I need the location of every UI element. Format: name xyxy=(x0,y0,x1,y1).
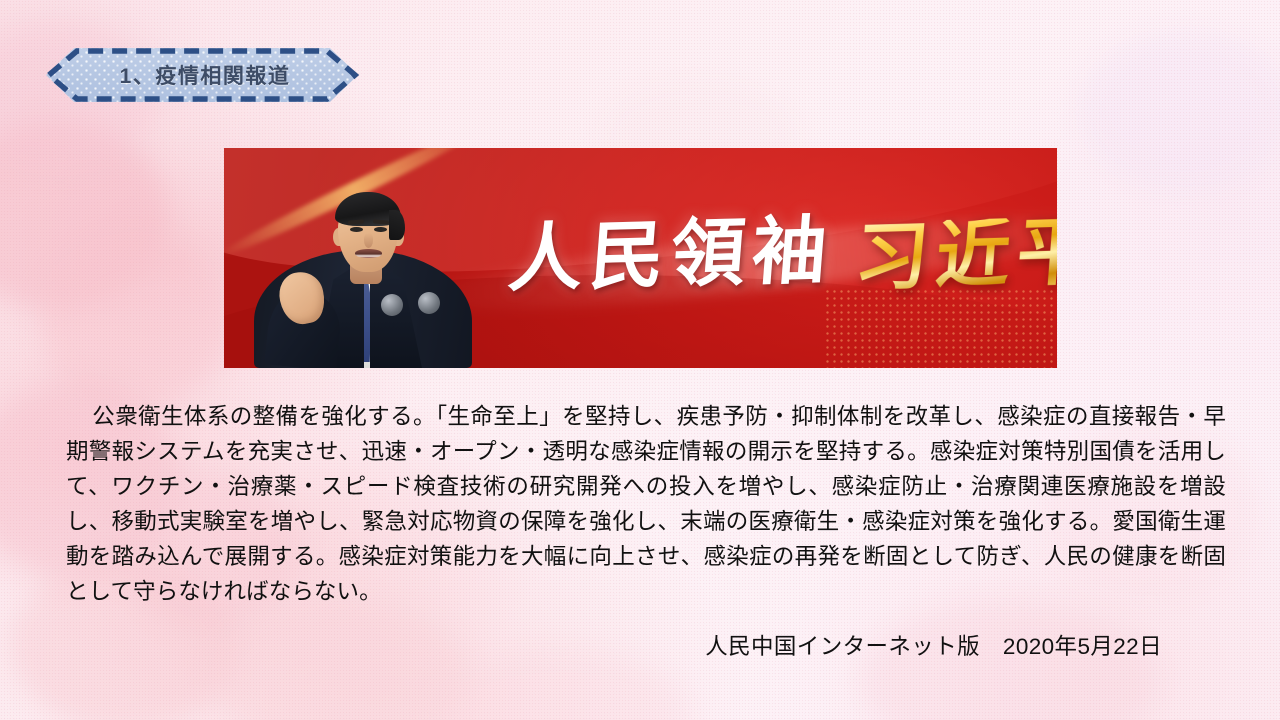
portrait-eye-right xyxy=(374,227,387,232)
slide-canvas: 1、疫情相関報道 xyxy=(0,0,1280,720)
footer-source-credit: 人民中国インターネット版 2020年5月22日 xyxy=(705,629,1162,661)
microphone-head-right xyxy=(418,292,440,314)
portrait-eye-left xyxy=(350,227,363,232)
paragraph-text: 公衆衛生体系の整備を強化する。「生命至上」を堅持し、疾患予防・抑制体制を改革し、… xyxy=(66,404,1226,604)
section-header-banner: 1、疫情相関報道 xyxy=(46,48,358,102)
banner-calligraphy: 人民領袖 习近平 xyxy=(509,192,1049,320)
body-paragraph: 公衆衛生体系の整備を強化する。「生命至上」を堅持し、疾患予防・抑制体制を改革し、… xyxy=(66,399,1226,609)
xi-jinping-portrait xyxy=(238,152,488,368)
banner-calligraphy-white: 人民領袖 xyxy=(506,214,837,297)
portrait-nose xyxy=(364,233,373,248)
hero-banner-image: 人民領袖 习近平 xyxy=(224,148,1057,368)
microphone-head-left xyxy=(381,294,403,316)
banner-calligraphy-gold: 习近平 xyxy=(852,216,1057,297)
section-header-label: 1、疫情相関報道 xyxy=(46,48,358,102)
portrait-mouth xyxy=(355,249,382,258)
portrait-hair-side xyxy=(389,210,405,240)
